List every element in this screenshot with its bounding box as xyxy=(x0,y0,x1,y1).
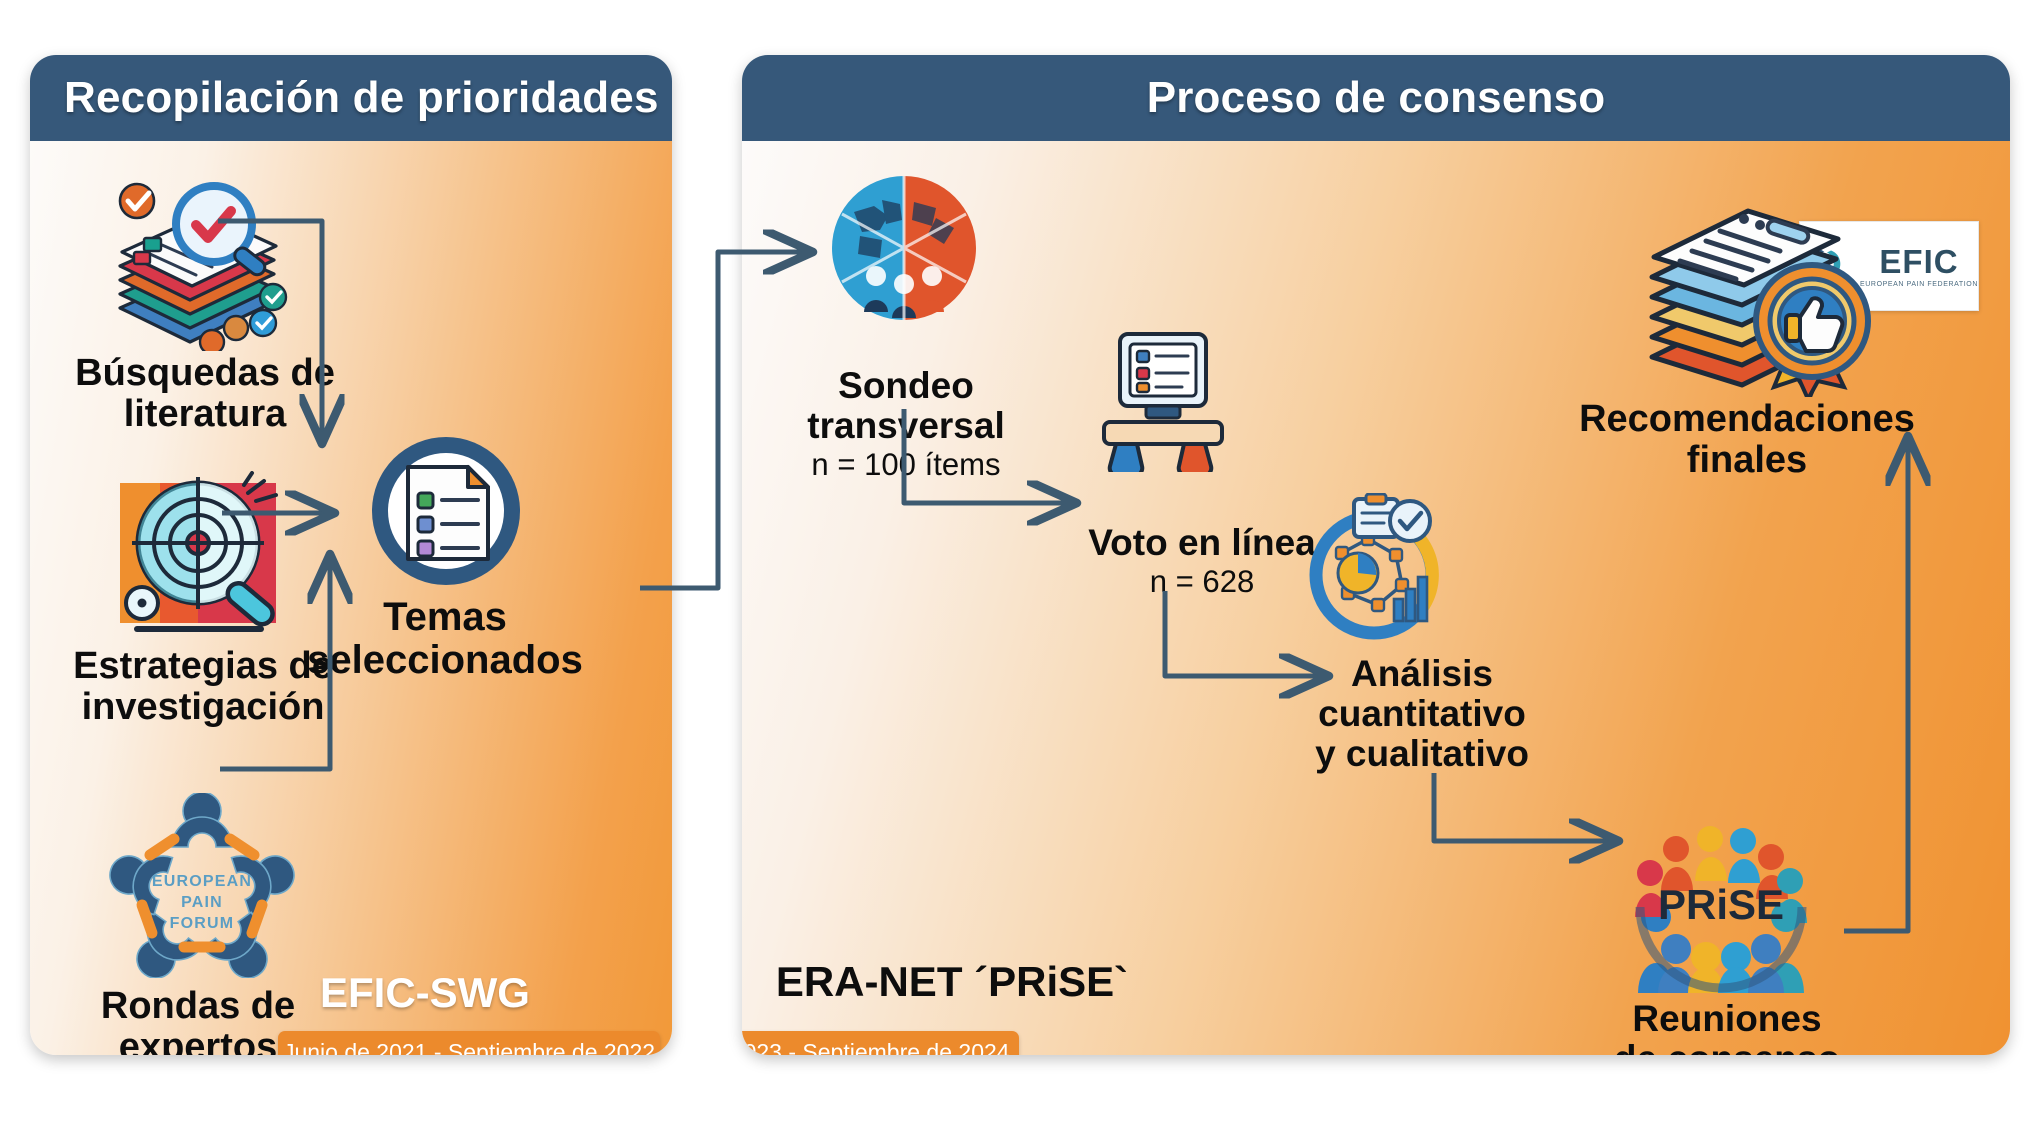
european-pain-forum-logo: EUROPEAN PAIN FORUM xyxy=(102,793,302,978)
program-label-era-net-prise: ERA-NET ´PRiSE` xyxy=(742,959,1232,1004)
survey-label-sub: n = 100 ítems xyxy=(772,448,1040,482)
node-label-consensus-meetings: Reuniones de consenso xyxy=(1577,999,1877,1055)
prise-logo: PRiSE xyxy=(1630,821,1812,993)
program-label-efic-swg: EFIC-SWG xyxy=(320,969,530,1017)
epf-line2: PAIN xyxy=(181,894,223,911)
europe-map-survey-icon xyxy=(830,174,978,322)
node-label-literature-searches: Búsquedas de literatura xyxy=(40,353,370,435)
panel-header-consensus-process: Proceso de consenso xyxy=(742,55,2010,141)
efic-logo-text: EFIC xyxy=(1879,245,1958,278)
panel-consensus-process: Proceso de consenso EFIC EUROPEAN PAIN F… xyxy=(742,55,2010,1055)
date-pill-efic-swg: Junio de 2021 - Septiembre de 2022 xyxy=(278,1031,660,1055)
stacked-documents-magnifier-icon xyxy=(92,176,302,351)
epf-line3: FORUM xyxy=(170,915,235,932)
target-magnifier-icon xyxy=(98,471,298,641)
date-pill-era-net-prise: Abril de 2023 - Septiembre de 2024 xyxy=(742,1031,1019,1055)
panel-title-consensus-process: Proceso de consenso xyxy=(1147,73,1606,123)
epf-line1: EUROPEAN xyxy=(152,873,252,890)
vote-label-main: Voto en línea xyxy=(1088,522,1316,563)
panel-body-consensus-process: EFIC EUROPEAN PAIN FEDERATION xyxy=(742,141,2010,1055)
diagram-canvas: Recopilación de prioridades xyxy=(0,0,2040,1131)
efic-logo-subtitle: EUROPEAN PAIN FEDERATION xyxy=(1860,281,1978,288)
checklist-circle-icon xyxy=(366,431,526,591)
node-label-cross-sectional-survey: Sondeo transversal n = 100 ítems xyxy=(772,326,1040,521)
prise-logo-text: PRiSE xyxy=(1658,881,1784,928)
panel-title-priority-collection: Recopilación de prioridades xyxy=(64,73,659,123)
panel-header-priority-collection: Recopilación de prioridades xyxy=(30,55,672,141)
analysis-charts-icon xyxy=(1298,493,1450,645)
document-stack-award-icon xyxy=(1622,157,1872,397)
node-label-quant-qual-analysis: Análisis cuantitativo y cualitativo xyxy=(1272,654,1572,774)
node-label-selected-topics: Temas seleccionados xyxy=(280,596,610,682)
survey-label-main: Sondeo transversal xyxy=(807,365,1004,446)
online-ballot-hands-icon xyxy=(1090,326,1236,472)
node-label-final-recommendations: Recomendaciones finales xyxy=(1562,399,1932,481)
panel-priority-collection: Recopilación de prioridades xyxy=(30,55,672,1055)
panel-body-priority-collection: Búsquedas de literatura xyxy=(30,141,672,1055)
